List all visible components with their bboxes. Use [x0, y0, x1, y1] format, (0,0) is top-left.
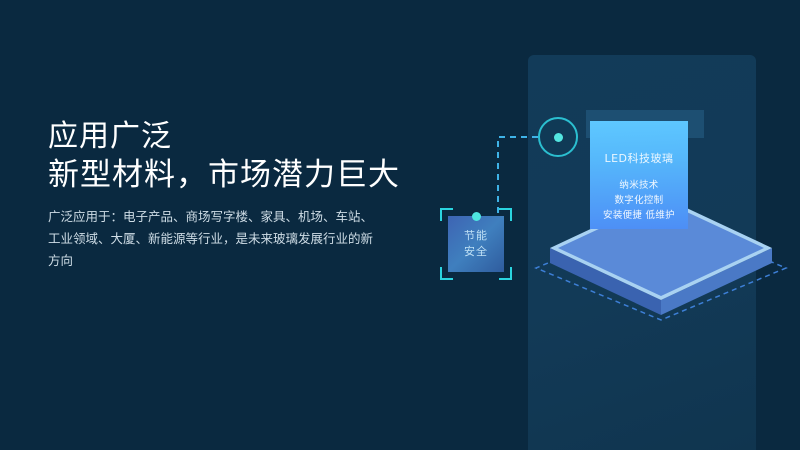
glass-panel-title: LED科技玻璃	[590, 150, 688, 166]
feature-card-line-1: 节能	[464, 228, 488, 244]
feature-card-dot-icon	[472, 212, 481, 221]
feature-card-body: 节能 安全	[448, 216, 504, 272]
glass-panel-sub-2: 数字化控制	[590, 193, 688, 208]
glass-panel: LED科技玻璃 纳米技术 数字化控制 安装便捷 低维护	[590, 121, 688, 229]
feature-card[interactable]: 节能 安全	[440, 208, 512, 280]
headline-line-1: 应用广泛	[48, 118, 448, 156]
glass-panel-subtitles: 纳米技术 数字化控制 安装便捷 低维护	[590, 178, 688, 223]
slide-canvas: 应用广泛 新型材料，市场潜力巨大 广泛应用于：电子产品、商场写字楼、家具、机场、…	[0, 0, 800, 450]
connector-node-dot-icon	[554, 133, 563, 142]
feature-card-line-2: 安全	[464, 244, 488, 260]
glass-panel-sub-3: 安装便捷 低维护	[590, 208, 688, 223]
corner-bracket-bottom-right-icon	[499, 267, 512, 280]
corner-bracket-bottom-left-icon	[440, 267, 453, 280]
glass-panel-sub-1: 纳米技术	[590, 178, 688, 193]
corner-bracket-top-right-icon	[499, 208, 512, 221]
text-block: 应用广泛 新型材料，市场潜力巨大 广泛应用于：电子产品、商场写字楼、家具、机场、…	[48, 118, 448, 272]
corner-bracket-top-left-icon	[440, 208, 453, 221]
headline-line-2: 新型材料，市场潜力巨大	[48, 156, 448, 194]
body-paragraph: 广泛应用于：电子产品、商场写字楼、家具、机场、车站、工业领域、大厦、新能源等行业…	[48, 206, 378, 272]
connector-node-icon	[538, 117, 578, 157]
